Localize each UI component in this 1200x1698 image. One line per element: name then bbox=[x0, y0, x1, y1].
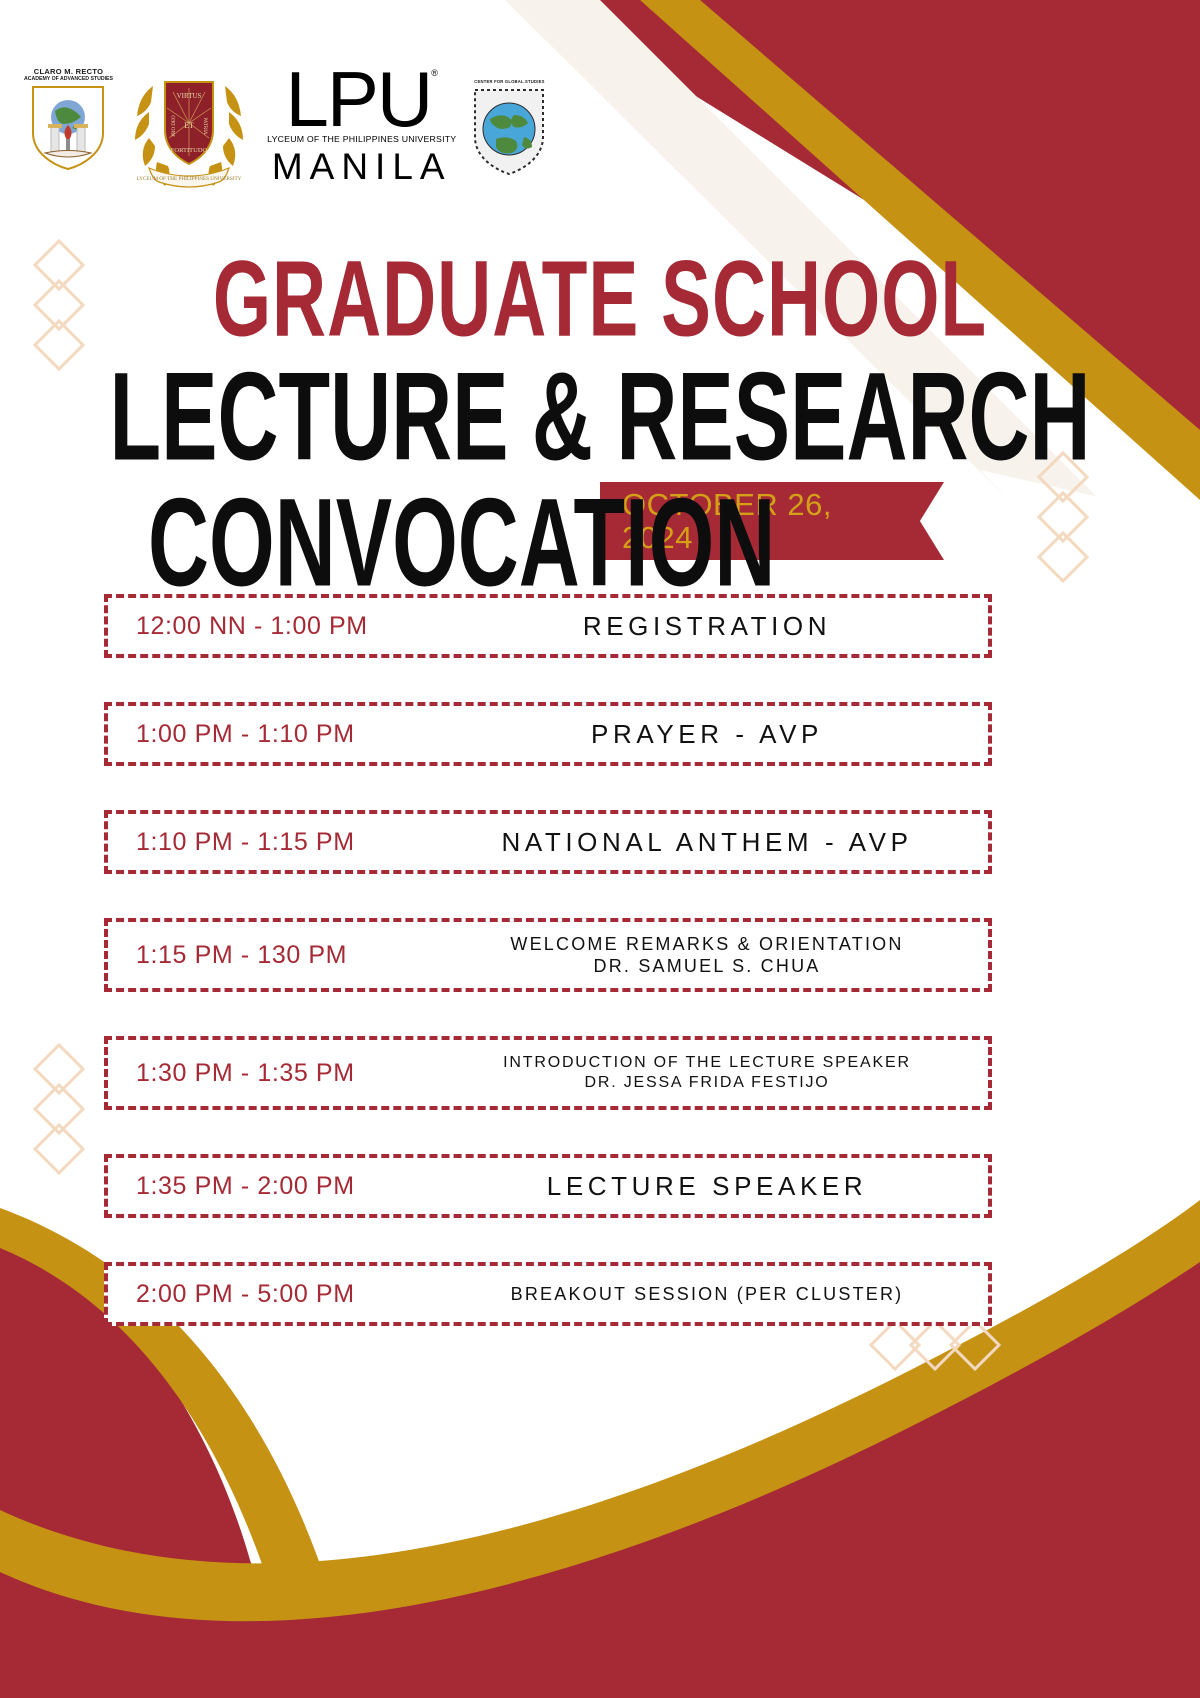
schedule-activity-line1: BREAKOUT SESSION (PER CLUSTER) bbox=[438, 1283, 976, 1306]
svg-text:LYCEUM OF THE PHILIPPINES UNIV: LYCEUM OF THE PHILIPPINES UNIVERSITY bbox=[137, 176, 242, 182]
schedule-time: 1:10 PM - 1:15 PM bbox=[108, 828, 438, 857]
diamond-cluster-bottom-right bbox=[871, 1321, 999, 1369]
schedule-activity: INTRODUCTION OF THE LECTURE SPEAKER DR. … bbox=[438, 1053, 988, 1093]
lpu-seal-logo: VIRTUS ET FORTITUDO PRO DEO PATRIA LYCEU… bbox=[123, 68, 255, 194]
lpu-wordmark-text: LPU bbox=[286, 68, 432, 132]
schedule-activity-line1: NATIONAL ANTHEM - AVP bbox=[438, 826, 976, 859]
logo-row: CLARO M. RECTO ACADEMY OF ADVANCED STUDI… bbox=[24, 68, 548, 194]
global-studies-shield-icon bbox=[470, 85, 548, 177]
lpu-tagline: LYCEUM OF THE PHILIPPINES UNIVERSITY bbox=[267, 134, 456, 144]
schedule-time: 12:00 NN - 1:00 PM bbox=[108, 612, 438, 641]
schedule-list: 12:00 NN - 1:00 PM REGISTRATION 1:00 PM … bbox=[104, 594, 992, 1326]
claro-recto-shield-icon bbox=[29, 83, 107, 171]
schedule-activity-line1: REGISTRATION bbox=[438, 610, 976, 643]
svg-text:ET: ET bbox=[184, 121, 194, 130]
svg-text:PRO DEO: PRO DEO bbox=[172, 115, 177, 137]
schedule-activity-line1: PRAYER - AVP bbox=[438, 718, 976, 751]
title-line-2: LECTURE & RESEARCH bbox=[24, 360, 1176, 475]
poster-title-block: GRADUATE SCHOOL LECTURE & RESEARCH CONVO… bbox=[0, 250, 1200, 582]
schedule-time: 1:30 PM - 1:35 PM bbox=[108, 1059, 438, 1088]
schedule-row: 12:00 NN - 1:00 PM REGISTRATION bbox=[104, 594, 992, 658]
schedule-time: 1:35 PM - 2:00 PM bbox=[108, 1172, 438, 1201]
schedule-row: 1:30 PM - 1:35 PM INTRODUCTION OF THE LE… bbox=[104, 1036, 992, 1110]
schedule-row: 1:15 PM - 130 PM WELCOME REMARKS & ORIEN… bbox=[104, 918, 992, 992]
schedule-activity-line2: DR. SAMUEL S. CHUA bbox=[438, 955, 976, 978]
schedule-activity-line1: INTRODUCTION OF THE LECTURE SPEAKER bbox=[438, 1053, 976, 1073]
svg-text:PATRIA: PATRIA bbox=[202, 117, 207, 134]
schedule-row: 1:35 PM - 2:00 PM LECTURE SPEAKER bbox=[104, 1154, 992, 1218]
lpu-seal-icon: VIRTUS ET FORTITUDO PRO DEO PATRIA LYCEU… bbox=[123, 68, 255, 194]
svg-text:FORTITUDO: FORTITUDO bbox=[171, 147, 208, 154]
schedule-row: 1:10 PM - 1:15 PM NATIONAL ANTHEM - AVP bbox=[104, 810, 992, 874]
schedule-activity: BREAKOUT SESSION (PER CLUSTER) bbox=[438, 1283, 988, 1306]
schedule-time: 1:15 PM - 130 PM bbox=[108, 941, 438, 970]
title-line-3: CONVOCATION bbox=[148, 486, 775, 601]
schedule-activity-line1: WELCOME REMARKS & ORIENTATION bbox=[438, 933, 976, 956]
svg-text:VIRTUS: VIRTUS bbox=[177, 92, 202, 100]
schedule-activity: WELCOME REMARKS & ORIENTATION DR. SAMUEL… bbox=[438, 933, 988, 978]
schedule-time: 1:00 PM - 1:10 PM bbox=[108, 720, 438, 749]
schedule-row: 2:00 PM - 5:00 PM BREAKOUT SESSION (PER … bbox=[104, 1262, 992, 1326]
schedule-row: 1:00 PM - 1:10 PM PRAYER - AVP bbox=[104, 702, 992, 766]
title-line-1: GRADUATE SCHOOL bbox=[24, 250, 1176, 349]
schedule-activity: NATIONAL ANTHEM - AVP bbox=[438, 826, 988, 859]
schedule-activity: REGISTRATION bbox=[438, 610, 988, 643]
claro-m-recto-academy-logo: CLARO M. RECTO ACADEMY OF ADVANCED STUDI… bbox=[24, 68, 113, 171]
schedule-activity: PRAYER - AVP bbox=[438, 718, 988, 751]
center-for-global-studies-logo: CENTER FOR GLOBAL STUDIES bbox=[470, 80, 548, 177]
schedule-activity-line1: LECTURE SPEAKER bbox=[438, 1170, 976, 1203]
poster-canvas: CLARO M. RECTO ACADEMY OF ADVANCED STUDI… bbox=[0, 0, 1200, 1698]
schedule-time: 2:00 PM - 5:00 PM bbox=[108, 1280, 438, 1309]
lpu-registered-mark: ® bbox=[431, 68, 438, 78]
diamond-cluster-left-bottom bbox=[35, 1045, 83, 1173]
lpu-wordmark-logo: LPU ® LYCEUM OF THE PHILIPPINES UNIVERSI… bbox=[269, 68, 454, 185]
schedule-activity-line2: DR. JESSA FRIDA FESTIJO bbox=[438, 1073, 976, 1093]
lpu-campus-name: MANILA bbox=[272, 148, 452, 185]
schedule-activity: LECTURE SPEAKER bbox=[438, 1170, 988, 1203]
